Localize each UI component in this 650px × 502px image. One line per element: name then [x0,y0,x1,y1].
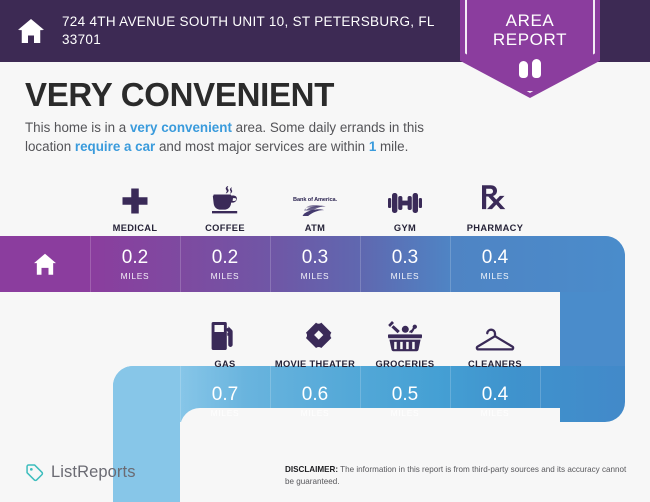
distance-unit: MILES [180,271,270,281]
distance-value: 0.4 [450,385,540,404]
distance-value: 0.5 [360,385,450,404]
category-atm[interactable]: Bank of America. ATM [270,176,360,233]
summary-part: mile. [376,139,408,154]
distance-value: 0.7 [180,385,270,404]
distance-cell: 0.2 MILES [90,248,180,281]
distance-unit: MILES [90,271,180,281]
icon-row-2: GAS MOVIE THEATER [180,312,540,369]
distance-unit: MILES [270,408,360,418]
footprint-left [519,61,528,78]
home-icon [0,250,90,278]
coffee-cup-icon [209,176,241,216]
distance-cell: 0.4 MILES [450,385,540,418]
gas-pump-icon [211,312,239,352]
property-address: 724 4TH AVENUE SOUTH UNIT 10, ST PETERSB… [62,13,452,49]
disclaimer: DISCLAIMER: The information in this repo… [285,464,635,488]
report-summary: This home is in a very convenient area. … [25,118,465,157]
distance-value: 0.4 [450,248,540,267]
category-label: CLEANERS [468,359,522,369]
summary-part: This home is in a [25,120,130,135]
distance-cell: 0.6 MILES [270,385,360,418]
bank-of-america-logo-icon: Bank of America. [293,176,337,216]
category-label: GAS [214,359,235,369]
dumbbell-icon [388,176,422,216]
distance-unit: MILES [360,408,450,418]
category-label: MOVIE THEATER [275,359,355,369]
icon-row-1: MEDICAL COFFEE Bank of America. ATM [90,176,540,233]
category-gas[interactable]: GAS [180,312,270,369]
category-label: COFFEE [205,223,245,233]
distance-cell: 0.3 MILES [360,248,450,281]
value-row-2: 0.7 MILES 0.6 MILES 0.5 MILES 0.4 MILES [180,385,540,418]
badge-text: AREA REPORT [460,11,600,49]
badge-line-2: REPORT [460,30,600,49]
category-movie-theater[interactable]: MOVIE THEATER [270,312,360,369]
distance-value: 0.6 [270,385,360,404]
brand-name: Bank of America. [293,197,337,203]
category-pharmacy[interactable]: PHARMACY [450,176,540,233]
distance-value: 0.2 [180,248,270,267]
summary-highlight: require a car [75,139,155,154]
listreports-logo[interactable]: ListReports [25,463,136,482]
category-gym[interactable]: GYM [360,176,450,233]
grocery-basket-icon [388,312,422,352]
distance-cell: 0.2 MILES [180,248,270,281]
category-cleaners[interactable]: CLEANERS [450,312,540,369]
category-label: GYM [394,223,416,233]
category-label: MEDICAL [113,223,158,233]
distance-value: 0.3 [270,248,360,267]
category-label: PHARMACY [467,223,524,233]
movie-ticket-icon [298,312,332,352]
home-icon [0,16,62,46]
category-coffee[interactable]: COFFEE [180,176,270,233]
badge-line-1: AREA [460,11,600,30]
distance-unit: MILES [450,271,540,281]
distance-value: 0.3 [360,248,450,267]
distance-value: 0.2 [90,248,180,267]
summary-highlight: very convenient [130,120,232,135]
distance-cell: 0.7 MILES [180,385,270,418]
category-label: GROCERIES [376,359,435,369]
rx-prescription-icon [480,176,510,216]
distance-unit: MILES [270,271,360,281]
distance-cell: 0.4 MILES [450,248,540,281]
boa-flag-mark [302,205,328,216]
medical-cross-icon [120,176,150,216]
area-report-badge: AREA REPORT [460,0,600,98]
summary-part: and most major services are within [155,139,369,154]
clothes-hanger-icon [475,312,515,352]
distance-unit: MILES [360,271,450,281]
distance-cell: 0.3 MILES [270,248,360,281]
disclaimer-label: DISCLAIMER: [285,465,338,474]
category-label: ATM [305,223,326,233]
category-groceries[interactable]: GROCERIES [360,312,450,369]
footprints-icon [460,56,600,78]
footprint-right [532,59,541,78]
distance-unit: MILES [450,408,540,418]
distance-cell: 0.5 MILES [360,385,450,418]
distance-unit: MILES [180,408,270,418]
category-medical[interactable]: MEDICAL [90,176,180,233]
value-row-1: 0.2 MILES 0.2 MILES 0.3 MILES 0.3 MILES … [0,248,540,280]
listreports-wordmark: ListReports [51,463,136,482]
page-title: VERY CONVENIENT [25,76,334,114]
listreports-tag-icon [25,463,44,482]
